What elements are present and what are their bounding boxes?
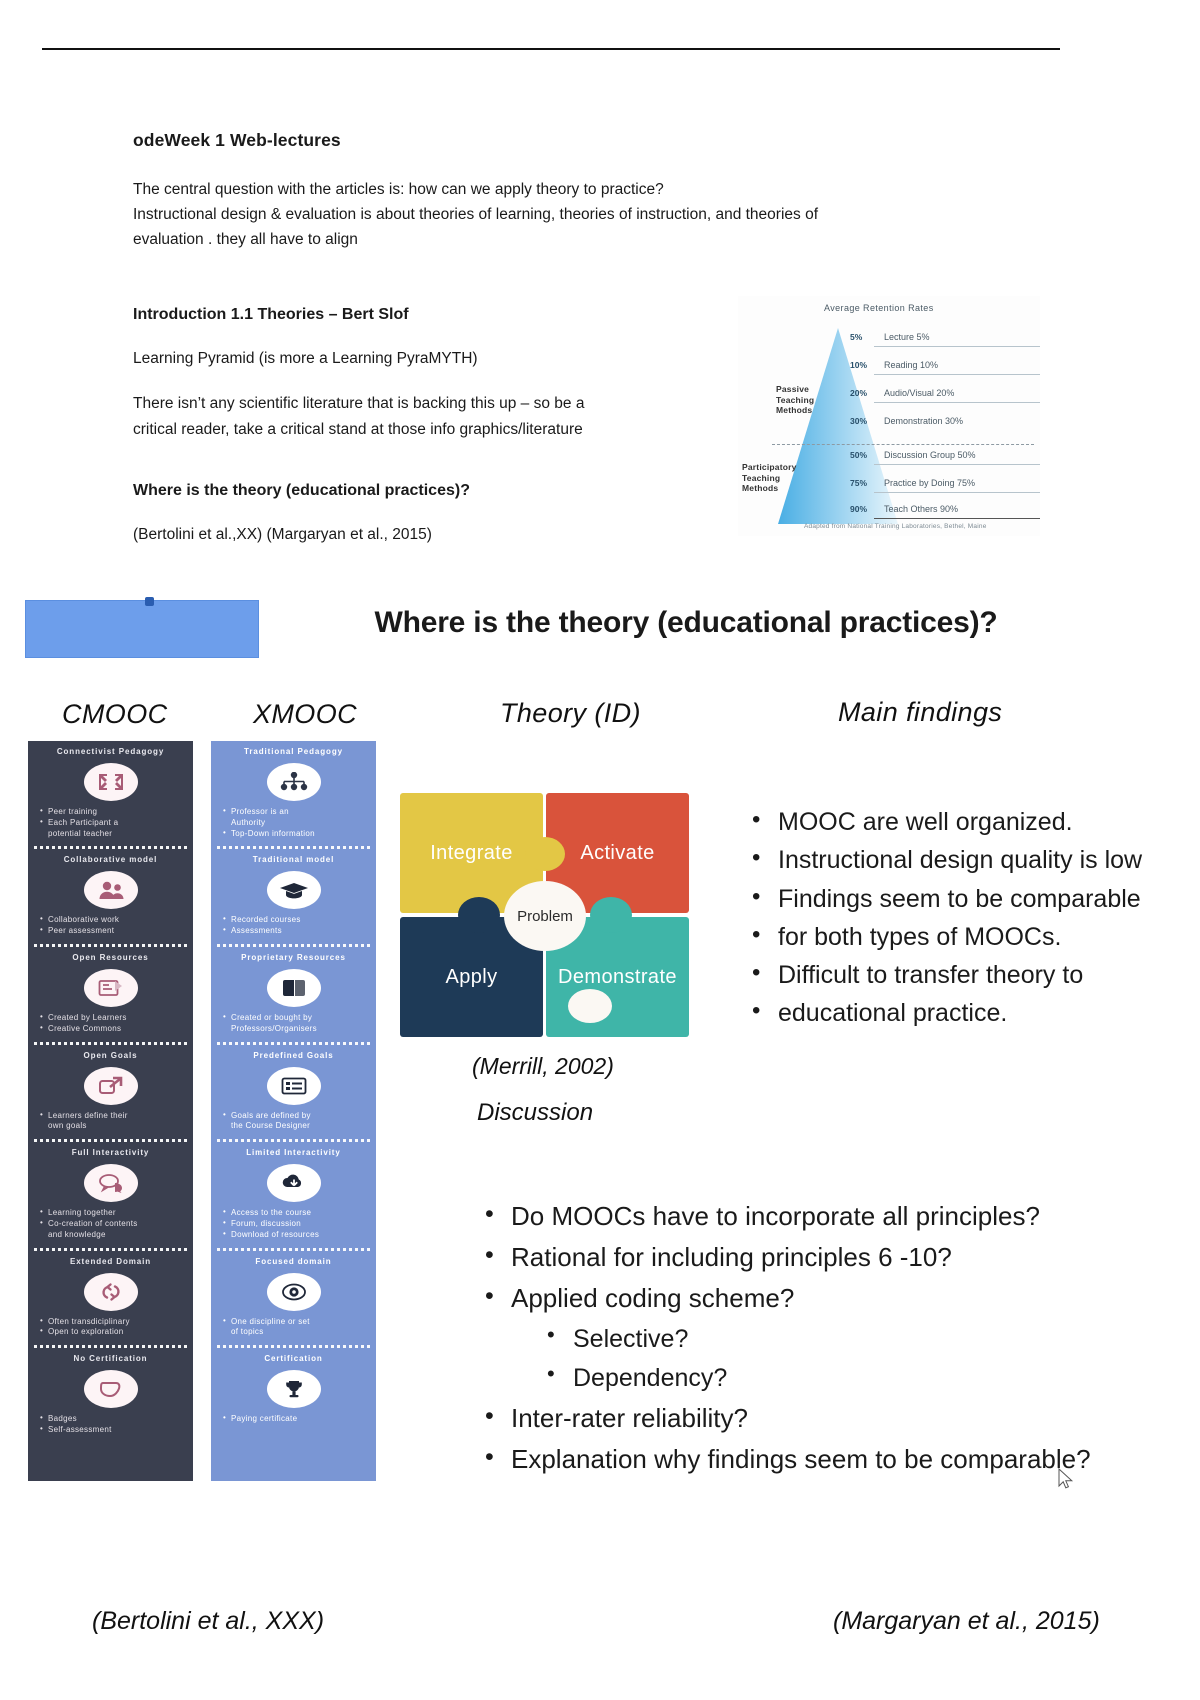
pyramid-side-label-passive: PassiveTeachingMethods <box>776 384 814 416</box>
segment-bullets: Often transdiciplinary Open to explorati… <box>28 1317 193 1343</box>
intro-line-2: Instructional design & evaluation is abo… <box>133 202 1013 227</box>
pyramid-row: 30% Demonstration 30% <box>850 412 1040 437</box>
segment-title: Collaborative model <box>28 849 193 864</box>
page-title: odeWeek 1 Web-lectures <box>133 130 1013 151</box>
xmooc-segment: Traditional Pedagogy Professor is an Aut… <box>211 741 376 849</box>
xmooc-segment: Proprietary Resources Created or bought … <box>211 947 376 1045</box>
mouse-cursor-icon <box>1058 1468 1074 1490</box>
list-item: MOOC are well organized. <box>746 806 1200 839</box>
slide-title: Where is the theory (educational practic… <box>86 606 1200 640</box>
segment-bullets: Recorded courses Assessments <box>211 915 376 941</box>
intro-line-1: The central question with the articles i… <box>133 177 1013 202</box>
four-arrows-icon <box>84 763 138 801</box>
graduation-cap-icon <box>267 871 321 909</box>
column-header-theory: Theory (ID) <box>500 698 641 729</box>
pyramid-row-label: Audio/Visual 20% <box>884 388 954 398</box>
xmooc-segment: Predefined Goals Goals are defined by th… <box>211 1045 376 1143</box>
list-item: Findings seem to be comparable <box>746 883 1200 916</box>
pyramid-row-label: Teach Others 90% <box>884 504 958 514</box>
list-item-continuation: educational practice. <box>746 997 1200 1030</box>
segment-bullets: Collaborative work Peer assessment <box>28 915 193 941</box>
list-item: Instructional design quality is low <box>746 844 1200 877</box>
segment-bullets: Learners define their own goals <box>28 1111 193 1137</box>
segment-title: Focused domain <box>211 1251 376 1266</box>
segment-title: Limited Interactivity <box>211 1142 376 1157</box>
puzzle-knob-icon <box>525 837 565 871</box>
pyramid-title: Average Retention Rates <box>824 303 934 313</box>
puzzle-knob-icon <box>590 897 632 933</box>
segment-bullets: Professor is an Authority Top-Down infor… <box>211 807 376 843</box>
trophy-icon <box>267 1370 321 1408</box>
segment-title: Certification <box>211 1348 376 1363</box>
cmooc-segment: Open Resources Created by Learners Creat… <box>28 947 193 1045</box>
speech-bubbles-icon <box>84 1164 138 1202</box>
segment-bullets: Created or bought by Professors/Organise… <box>211 1013 376 1039</box>
segment-bullets: Created by Learners Creative Commons <box>28 1013 193 1039</box>
pyramid-side-label-participatory: ParticipatoryTeachingMethods <box>742 462 797 494</box>
list-item: Do MOOCs have to incorporate all princip… <box>477 1199 1200 1235</box>
learning-pyramid-figure: Average Retention Rates PassiveTeachingM… <box>738 296 1040 536</box>
segment-bullets: Goals are defined by the Course Designer <box>211 1111 376 1137</box>
list-item: Difficult to transfer theory to <box>746 959 1200 992</box>
pyramid-credit: Adapted from National Training Laborator… <box>804 523 987 530</box>
pyramid-row-label: Lecture 5% <box>884 332 930 342</box>
segment-title: Traditional Pedagogy <box>211 741 376 756</box>
pyramid-divider <box>772 444 1034 445</box>
xmooc-segment: Limited Interactivity Access to the cour… <box>211 1142 376 1250</box>
segment-title: Extended Domain <box>28 1251 193 1266</box>
pyramid-row-pct: 20% <box>850 388 867 398</box>
segment-title: Proprietary Resources <box>211 947 376 962</box>
segment-bullets: Peer training Each Participant a potenti… <box>28 807 193 843</box>
puzzle-center-problem: Problem <box>504 881 586 951</box>
discussion-list: Do MOOCs have to incorporate all princip… <box>437 1199 1200 1482</box>
cmooc-infographic: Connectivist Pedagogy Peer training Each… <box>28 741 193 1481</box>
puzzle-knob-icon <box>568 989 612 1023</box>
cmooc-segment: Collaborative model Collaborative work P… <box>28 849 193 947</box>
pyramid-row-label: Discussion Group 50% <box>884 450 976 460</box>
pyramid-row: 75% Practice by Doing 75% <box>850 474 1040 499</box>
segment-title: No Certification <box>28 1348 193 1363</box>
hierarchy-tree-icon <box>267 763 321 801</box>
pyramid-row-pct: 50% <box>850 450 867 460</box>
open-document-icon <box>84 969 138 1007</box>
pyramid-row: 5% Lecture 5% <box>850 328 1040 353</box>
pyramid-row: 10% Reading 10% <box>850 356 1040 381</box>
merrill-citation: (Merrill, 2002) <box>472 1053 614 1080</box>
list-item: Applied coding scheme? <box>477 1281 1200 1317</box>
segment-bullets: Learning together Co-creation of content… <box>28 1208 193 1244</box>
segment-bullets: Badges Self-assessment <box>28 1414 193 1440</box>
page-root: odeWeek 1 Web-lectures The central quest… <box>0 0 1200 1700</box>
citation-margaryan: (Margaryan et al., 2015) <box>833 1607 1100 1636</box>
list-item-continuation: for both types of MOOCs. <box>746 921 1200 954</box>
cmooc-segment: Extended Domain Often transdiciplinary O… <box>28 1251 193 1349</box>
main-findings-list: MOOC are well organized. Instructional d… <box>706 806 1200 1036</box>
column-header-cmooc: CMOOC <box>62 699 168 730</box>
pyramid-row: 90% Teach Others 90% <box>850 500 1040 525</box>
book-icon <box>267 969 321 1007</box>
badge-shape-icon <box>84 1370 138 1408</box>
download-cloud-icon <box>267 1164 321 1202</box>
segment-bullets: Access to the course Forum, discussion D… <box>211 1208 376 1244</box>
pyramid-row-pct: 90% <box>850 504 867 514</box>
segment-bullets: Paying certificate <box>211 1414 376 1429</box>
segment-title: Traditional model <box>211 849 376 864</box>
two-people-icon <box>84 871 138 909</box>
segment-title: Open Goals <box>28 1045 193 1060</box>
pyramid-row-label: Reading 10% <box>884 360 938 370</box>
puzzle-knob-icon <box>458 897 500 933</box>
pyramid-row-pct: 5% <box>850 332 862 342</box>
segment-bullets: One discipline or set of topics <box>211 1317 376 1343</box>
embedded-slide: Where is the theory (educational practic… <box>0 585 1200 1700</box>
pyramid-row-pct: 75% <box>850 478 867 488</box>
discussion-heading: Discussion <box>477 1099 593 1127</box>
pyramid-row-label: Demonstration 30% <box>884 416 963 426</box>
cmooc-segment: Full Interactivity Learning together Co-… <box>28 1142 193 1250</box>
pyramid-row-pct: 10% <box>850 360 867 370</box>
xmooc-segment: Focused domain One discipline or set of … <box>211 1251 376 1349</box>
xmooc-segment: Certification Paying certificate <box>211 1348 376 1429</box>
pyramid-row-pct: 30% <box>850 416 867 426</box>
column-header-xmooc: XMOOC <box>253 699 357 730</box>
cmooc-segment: No Certification Badges Self-assessment <box>28 1348 193 1440</box>
list-item-sub: Selective? <box>477 1322 1200 1357</box>
list-item: Explanation why findings seem to be comp… <box>477 1442 1200 1478</box>
segment-title: Full Interactivity <box>28 1142 193 1157</box>
segment-title: Connectivist Pedagogy <box>28 741 193 756</box>
xmooc-segment: Traditional model Recorded courses Asses… <box>211 849 376 947</box>
pyramid-row: 20% Audio/Visual 20% <box>850 384 1040 409</box>
cmooc-segment: Connectivist Pedagogy Peer training Each… <box>28 741 193 849</box>
target-eye-icon <box>267 1273 321 1311</box>
citation-bertolini: (Bertolini et al., XXX) <box>92 1607 324 1636</box>
list-icon <box>267 1067 321 1105</box>
intro-line-3: evaluation . they all have to align <box>133 227 1013 252</box>
column-header-findings: Main findings <box>838 697 1002 728</box>
xmooc-infographic: Traditional Pedagogy Professor is an Aut… <box>211 741 376 1481</box>
pyramid-row-label: Practice by Doing 75% <box>884 478 975 488</box>
pyramid-row: 50% Discussion Group 50% <box>850 446 1040 471</box>
header-rule <box>42 48 1060 50</box>
merrill-puzzle-diagram: Integrate Activate Apply Demonstrate Pro… <box>400 793 690 1041</box>
segment-title: Open Resources <box>28 947 193 962</box>
list-item: Rational for including principles 6 -10? <box>477 1240 1200 1276</box>
arrow-out-of-box-icon <box>84 1067 138 1105</box>
recycle-loop-icon <box>84 1273 138 1311</box>
segment-title: Predefined Goals <box>211 1045 376 1060</box>
list-item-sub: Dependency? <box>477 1361 1200 1396</box>
list-item: Inter-rater reliability? <box>477 1401 1200 1437</box>
cmooc-segment: Open Goals Learners define their own goa… <box>28 1045 193 1143</box>
